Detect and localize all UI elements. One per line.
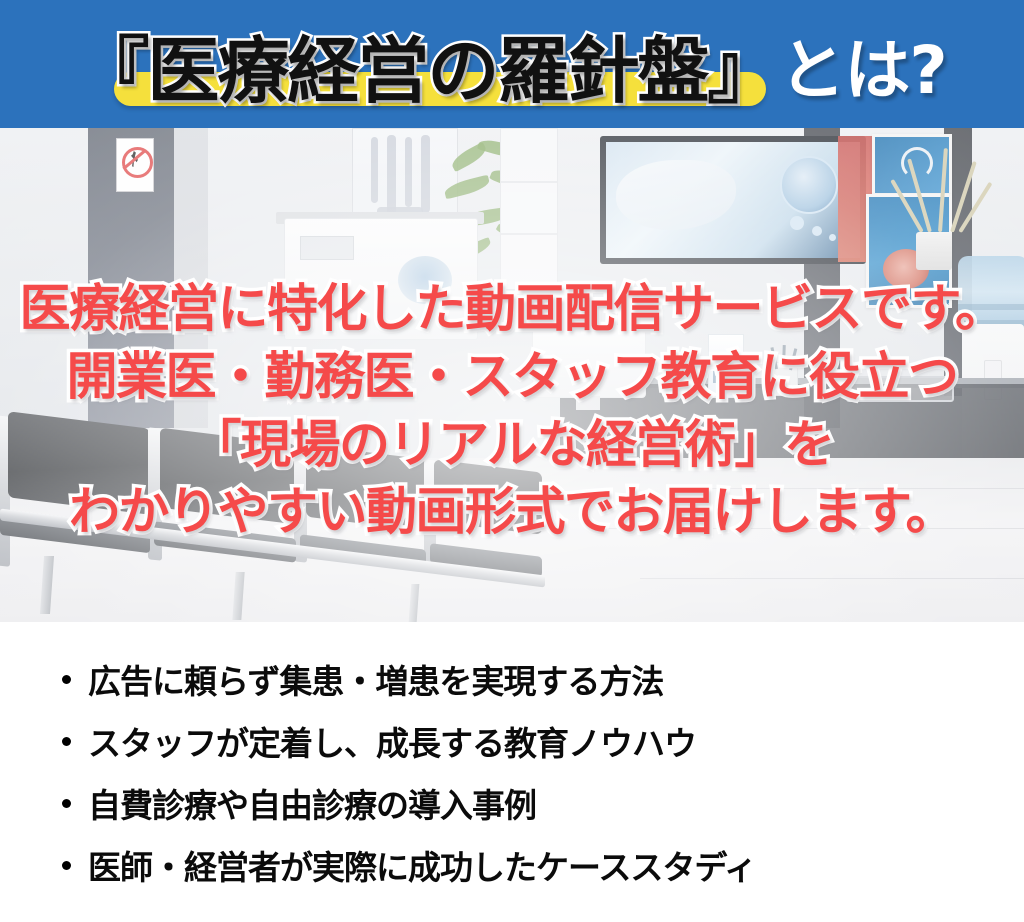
bullet-dot-icon: [62, 737, 71, 746]
page-header: 『医療経営の羅針盤』とは?: [0, 0, 1024, 128]
feature-list: 広告に頼らず集患・増患を実現する方法 スタッフが定着し、成長する教育ノウハウ 自…: [0, 622, 1024, 922]
list-item-label: 広告に頼らず集患・増患を実現する方法: [88, 655, 663, 703]
page-title-main: 『医療経営の羅針盤』: [77, 29, 777, 113]
hero-line-4: わかりやすい動画形式でお届けします。: [0, 479, 1024, 547]
bullet-dot-icon: [62, 799, 71, 808]
hero-section: 医療経営に特化した動画配信サービスです。 開業医・勤務医・スタッフ教育に役立つ …: [0, 128, 1024, 622]
list-item-label: 医師・経営者が実際に成功したケーススタディ: [88, 841, 756, 889]
hero-message: 医療経営に特化した動画配信サービスです。 開業医・勤務医・スタッフ教育に役立つ …: [0, 276, 1024, 547]
list-item: 医師・経営者が実際に成功したケーススタディ: [0, 834, 1024, 896]
header-inner: 『医療経営の羅針盤』とは?: [0, 0, 1024, 128]
list-item: スタッフが定着し、成長する教育ノウハウ: [0, 710, 1024, 772]
page-title-suffix: とは?: [779, 32, 946, 109]
bullet-dot-icon: [62, 861, 71, 870]
hero-line-2: 開業医・勤務医・スタッフ教育に役立つ: [0, 344, 1024, 412]
list-item: 自費診療や自由診療の導入事例: [0, 772, 1024, 834]
list-item-label: 自費診療や自由診療の導入事例: [88, 779, 536, 827]
hero-line-3: 「現場のリアルな経営術」を: [0, 412, 1024, 480]
promo-page: 『医療経営の羅針盤』とは?: [0, 0, 1024, 922]
list-item: 広告に頼らず集患・増患を実現する方法: [0, 648, 1024, 710]
list-item-label: スタッフが定着し、成長する教育ノウハウ: [88, 717, 696, 765]
hero-line-1: 医療経営に特化した動画配信サービスです。: [0, 276, 1024, 344]
page-title: 『医療経営の羅針盤』とは?: [0, 12, 1024, 117]
bullet-dot-icon: [62, 675, 71, 684]
